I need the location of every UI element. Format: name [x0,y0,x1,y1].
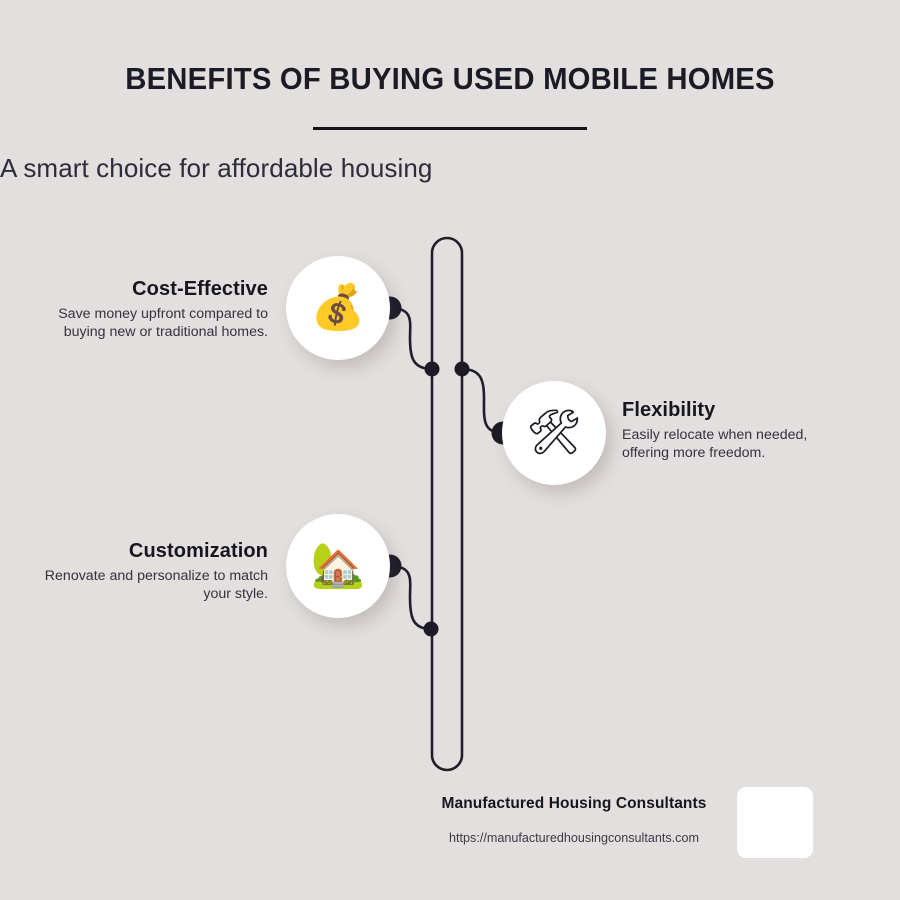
money-bag-icon: 💰 [311,286,366,330]
benefit-block-flexibility: Flexibility Easily relocate when needed,… [622,399,822,462]
benefit-description-cost-effective: Save money upfront compared to buying ne… [38,305,268,341]
benefit-block-customization: Customization Renovate and personalize t… [38,540,268,603]
benefit-title-flexibility: Flexibility [622,399,822,422]
junction-dot-left-upper [425,362,440,377]
page-subtitle: A smart choice for affordable housing [0,153,900,184]
benefit-title-customization: Customization [38,540,268,563]
benefit-description-customization: Renovate and personalize to match your s… [38,567,268,603]
icon-circle-cost-effective: 💰 [286,256,390,360]
title-divider [313,127,587,130]
benefit-title-cost-effective: Cost-Effective [38,278,268,301]
junction-dot-right-upper [455,362,470,377]
icon-circle-customization: 🏡 [286,514,390,618]
house-with-garden-icon: 🏡 [311,544,366,588]
branch-path-cost-effective [390,308,432,369]
icon-circle-flexibility: 🛠 [502,381,606,485]
junction-dot-left-lower [424,622,439,637]
infographic-canvas: BENEFITS OF BUYING USED MOBILE HOMES A s… [0,0,900,900]
benefit-description-flexibility: Easily relocate when needed, offering mo… [622,426,822,462]
branch-path-customization [390,566,431,629]
spine-stadium-path [432,238,462,770]
hammer-and-wrench-icon: 🛠 [526,411,582,455]
benefit-block-cost-effective: Cost-Effective Save money upfront compar… [38,278,268,341]
branch-path-flexibility [462,369,503,433]
page-title: BENEFITS OF BUYING USED MOBILE HOMES [18,0,882,97]
header: BENEFITS OF BUYING USED MOBILE HOMES [0,0,900,97]
brand-logo [737,787,813,858]
